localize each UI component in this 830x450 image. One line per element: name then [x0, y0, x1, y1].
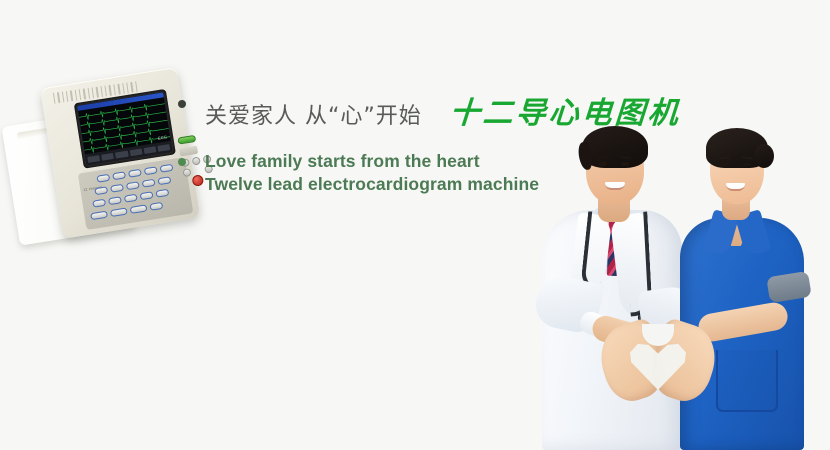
keypad-key[interactable] — [149, 202, 163, 211]
device-lcd-bezel: ECG — [74, 89, 176, 169]
keypad-key[interactable] — [94, 186, 108, 195]
headline-english-row: Love family starts from the heart Twelve… — [178, 150, 539, 196]
headline-english-block: Love family starts from the heart Twelve… — [205, 150, 539, 196]
keypad-key[interactable] — [144, 166, 158, 175]
device-start-button[interactable] — [177, 135, 196, 145]
product-name-english: Twelve lead electrocardiogram machine — [205, 173, 539, 196]
headline-chinese-row: 关爱家人 从“心”开始 十二导心电图机 — [178, 88, 681, 132]
nurse-smile — [726, 183, 745, 191]
slogan-english-line1: Love family starts from the heart — [205, 150, 539, 173]
nurse-scrub-pocket — [716, 350, 778, 412]
slogan-chinese: 关爱家人 从“心”开始 — [205, 98, 422, 130]
keypad-key[interactable] — [110, 184, 124, 193]
product-name-chinese: 十二导心电图机 — [448, 88, 682, 132]
keypad-key[interactable] — [142, 179, 156, 188]
bullet-icon — [178, 158, 186, 166]
device-keypad: 12 channel — [78, 156, 194, 230]
keypad-key[interactable] — [130, 204, 148, 214]
keypad-key[interactable] — [157, 176, 171, 185]
bullet-icon — [178, 100, 186, 108]
keypad-key[interactable] — [155, 189, 169, 198]
nurse-sleeve-trim — [766, 271, 812, 303]
keypad-key[interactable] — [110, 207, 128, 217]
device-lcd-screen: ECG — [77, 92, 172, 165]
keypad-key[interactable] — [92, 199, 106, 208]
keypad-key[interactable] — [112, 171, 126, 180]
keypad-key[interactable] — [108, 196, 122, 205]
device-body: ECG 12 channel — [40, 67, 200, 239]
ecg-machine-image: ECG 12 channel — [0, 65, 205, 257]
keypad-key[interactable] — [126, 181, 140, 190]
medical-staff-photo — [520, 128, 830, 450]
doctor-smile — [605, 182, 625, 190]
doctor-hair — [582, 126, 648, 168]
nurse-hair-bun — [754, 144, 774, 168]
keypad-key[interactable] — [124, 194, 138, 203]
doctor-eye-left — [599, 162, 607, 166]
keypad-key[interactable] — [128, 169, 142, 178]
keypad-key[interactable] — [160, 164, 174, 173]
doctor-eye-right — [621, 162, 629, 166]
keypad-key[interactable] — [140, 191, 154, 200]
promo-banner: ECG 12 channel — [0, 0, 830, 450]
keypad-key[interactable] — [90, 211, 108, 221]
keypad-key[interactable] — [96, 174, 110, 183]
